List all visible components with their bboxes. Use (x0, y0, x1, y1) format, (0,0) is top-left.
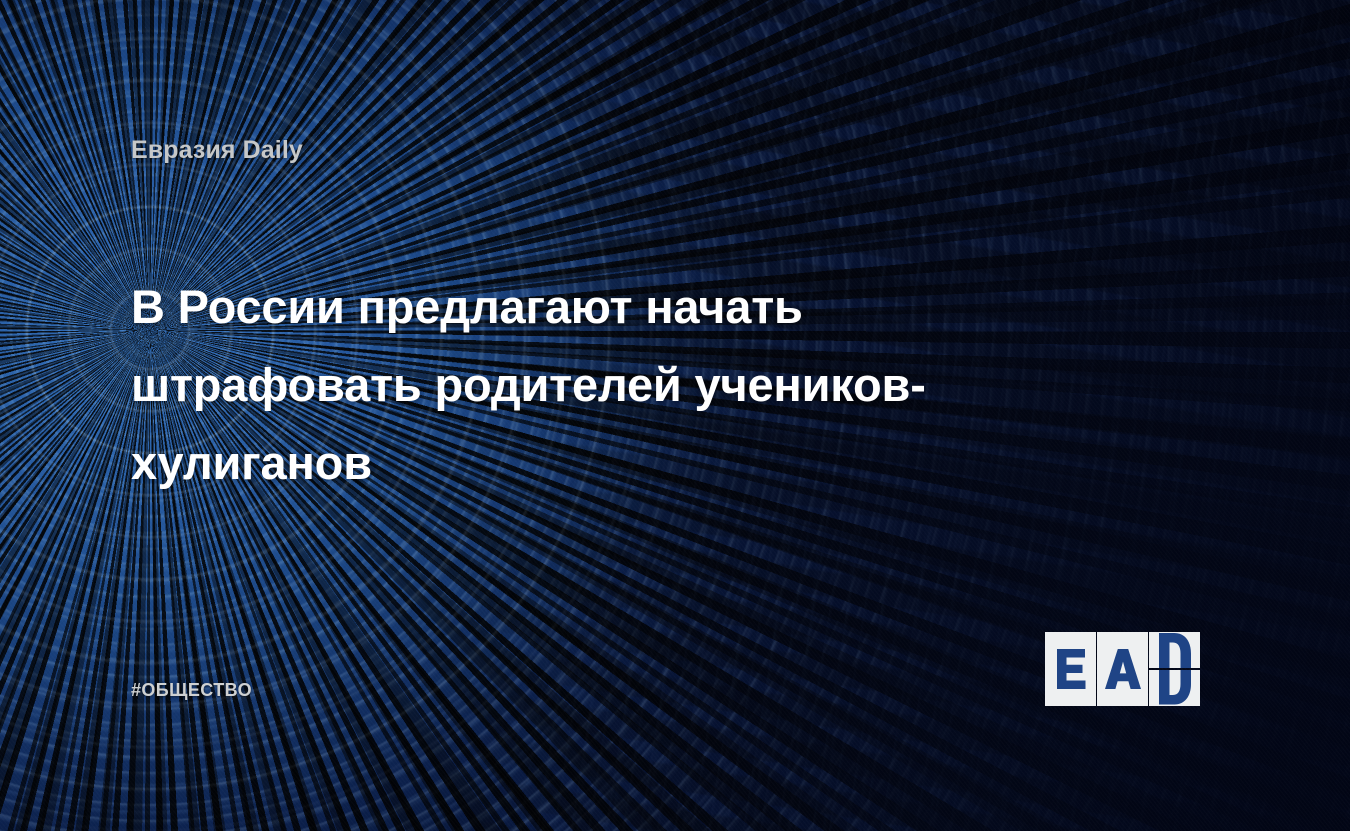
card-content: Евразия Daily В России предлагают начать… (0, 0, 1350, 831)
headline: В России предлагают начать штрафовать ро… (131, 268, 951, 502)
logo-tile-e (1045, 632, 1096, 706)
category-tag[interactable]: #ОБЩЕСТВО (131, 680, 252, 701)
logo-tile-a (1097, 632, 1148, 706)
news-card: Евразия Daily В России предлагают начать… (0, 0, 1350, 831)
logo-tile-d-bottom (1149, 670, 1200, 706)
brand-name: Евразия Daily (131, 136, 303, 165)
logo-tile-d-top (1149, 632, 1200, 668)
eadaily-logo[interactable] (1045, 632, 1230, 706)
